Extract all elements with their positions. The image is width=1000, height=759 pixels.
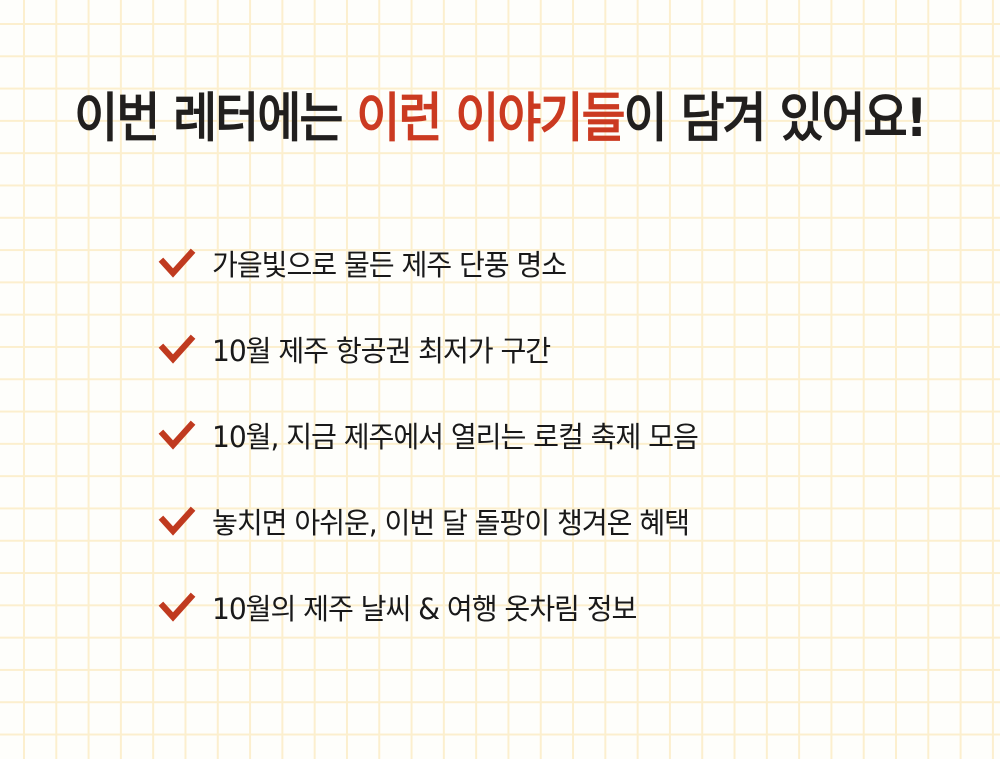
page-title-suffix: 이 담겨 있어요! xyxy=(624,88,926,149)
check-icon xyxy=(158,504,196,542)
list-item: 10월, 지금 제주에서 열리는 로컬 축제 모음 xyxy=(158,408,958,466)
page-title: 이번 레터에는 이런 이야기들이 담겨 있어요! xyxy=(50,88,950,150)
list-item-label: 가을빛으로 물든 제주 단풍 명소 xyxy=(212,246,566,284)
list-item: 가을빛으로 물든 제주 단풍 명소 xyxy=(158,236,958,294)
checklist: 가을빛으로 물든 제주 단풍 명소 10월 제주 항공권 최저가 구간 10월,… xyxy=(158,236,958,638)
list-item-label: 10월, 지금 제주에서 열리는 로컬 축제 모음 xyxy=(212,418,698,456)
list-item-label: 10월의 제주 날씨 & 여행 옷차림 정보 xyxy=(212,590,636,628)
check-icon xyxy=(158,332,196,370)
check-icon xyxy=(158,590,196,628)
list-item-label: 놓치면 아쉬운, 이번 달 돌팡이 챙겨온 혜택 xyxy=(212,504,689,542)
list-item-label: 10월 제주 항공권 최저가 구간 xyxy=(212,332,550,370)
check-icon xyxy=(158,418,196,456)
list-item: 놓치면 아쉬운, 이번 달 돌팡이 챙겨온 혜택 xyxy=(158,494,958,552)
list-item: 10월의 제주 날씨 & 여행 옷차림 정보 xyxy=(158,580,958,638)
list-item: 10월 제주 항공권 최저가 구간 xyxy=(158,322,958,380)
slide-content: 이번 레터에는 이런 이야기들이 담겨 있어요! 가을빛으로 물든 제주 단풍 … xyxy=(0,0,1000,759)
check-icon xyxy=(158,246,196,284)
page-title-prefix: 이번 레터에는 xyxy=(74,88,356,149)
page-title-accent: 이런 이야기들 xyxy=(356,88,623,149)
